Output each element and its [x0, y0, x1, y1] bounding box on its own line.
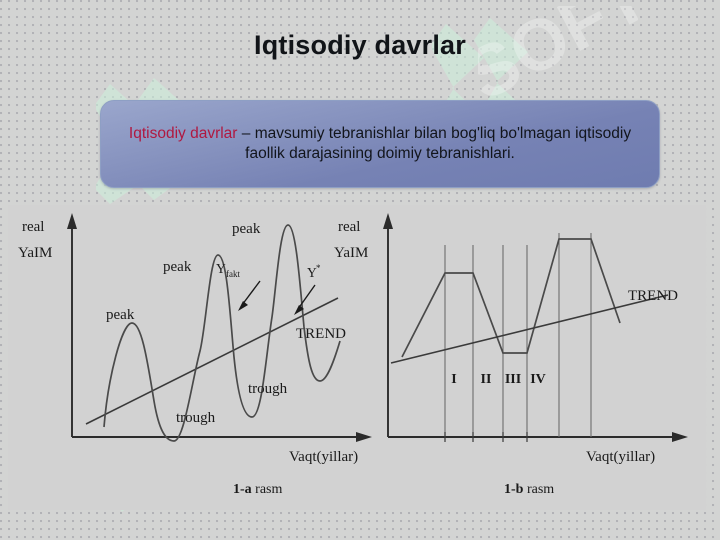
fig1a-trough-label-1: trough: [176, 410, 216, 426]
fig1a-y-axis-label-line1: real: [22, 219, 44, 235]
fig1b-y-axis-label-line1: real: [338, 219, 360, 235]
fig1b-y-axis-label-line2: YaIM: [334, 245, 368, 261]
fig1b-phase-label-1: I: [451, 372, 456, 387]
fig1b-trend-label: TREND: [628, 288, 678, 304]
fig1b-x-axis-label: Vaqt(yillar): [586, 449, 655, 465]
figures-svg: real YaIM TREND peak peak peak trough tr…: [8, 205, 706, 510]
fig1a-peak-label-2: peak: [163, 259, 192, 275]
fig1a-caption: 1-a rasm: [233, 482, 282, 497]
fig1b-caption-rest: rasm: [523, 482, 554, 497]
fig1a-y-axis-label-line2: YaIM: [18, 245, 52, 261]
definition-body: mavsumiy tebranishlar bilan bog'liq bo'l…: [245, 125, 631, 162]
definition-text: Iqtisodiy davrlar – mavsumiy tebranishla…: [101, 124, 659, 165]
fig1a-peak-label-3: peak: [232, 221, 261, 237]
fig1a-caption-bold: 1-a: [233, 482, 252, 497]
fig1a-peak-label-1: peak: [106, 307, 135, 323]
fig1a-caption-rest: rasm: [252, 482, 283, 497]
fig1b-caption-bold: 1-b: [504, 482, 524, 497]
fig1b-phase-label-2: II: [481, 372, 492, 387]
fig1a-y-fakt-label: Y: [216, 261, 226, 276]
page-title: Iqtisodiy davrlar: [0, 30, 720, 61]
definition-callout-box: Iqtisodiy davrlar – mavsumiy tebranishla…: [100, 100, 660, 188]
fig1a-x-axis-label: Vaqt(yillar): [289, 449, 358, 465]
figure-panel: real YaIM TREND peak peak peak trough tr…: [8, 205, 706, 510]
fig1b-phase-label-4: IV: [530, 372, 546, 387]
fig1b-caption: 1-b rasm: [504, 482, 554, 497]
definition-term: Iqtisodiy davrlar: [129, 125, 238, 142]
definition-separator: –: [237, 125, 254, 142]
fig1a-trough-label-2: trough: [248, 381, 288, 397]
fig1a-y-fakt-subscript: fakt: [226, 269, 240, 279]
fig1a-y-star-superscript: *: [316, 263, 321, 273]
fig1b-phase-label-3: III: [505, 372, 521, 387]
